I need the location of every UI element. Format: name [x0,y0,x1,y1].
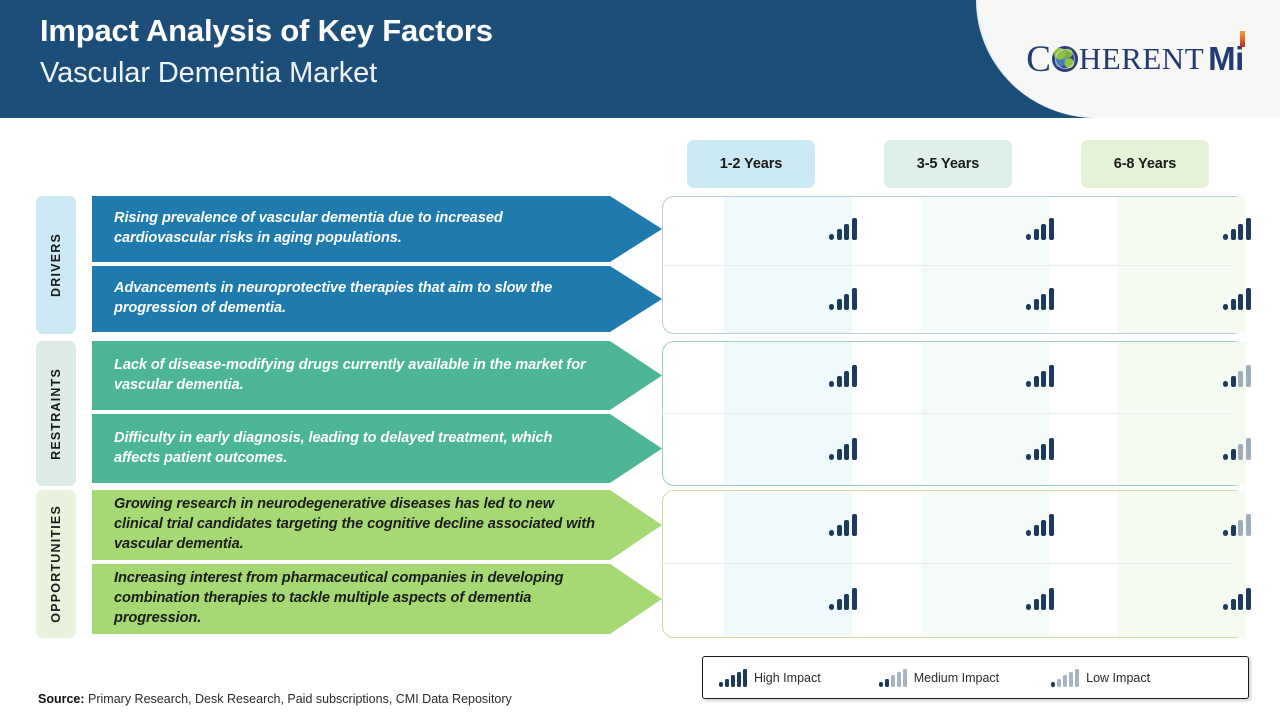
factor-text: Lack of disease-modifying drugs currentl… [114,356,602,395]
impact-cell [976,564,1104,634]
impact-cell [779,490,907,560]
impact-bars-medium-icon [879,669,907,687]
table-row: Increasing interest from pharmaceutical … [92,564,1246,634]
column-header-label: 6-8 Years [1114,156,1177,172]
factor-banner: Difficulty in early diagnosis, leading t… [92,414,662,483]
factor-text: Increasing interest from pharmaceutical … [114,569,602,628]
impact-bars-high [829,218,857,240]
logo-accent-bar [1240,31,1245,47]
page-title: Impact Analysis of Key Factors [40,12,493,51]
impact-cells [662,490,1246,560]
legend: High Impact Medium Impact Low Impact [702,656,1249,699]
impact-cell [779,414,907,483]
factor-text: Difficulty in early diagnosis, leading t… [114,429,602,468]
group-label-drivers: DRIVERS [36,196,76,334]
impact-cells [662,341,1246,410]
impact-cell [1173,490,1280,560]
table-row: Lack of disease-modifying drugs currentl… [92,341,1246,410]
legend-label: Low Impact [1086,671,1150,685]
logo-lead-letter: C [1026,38,1051,81]
logo-panel: C HERENT Mi [978,0,1280,118]
logo-mark-text: Mi [1208,40,1244,77]
group-label-restraints: RESTRAINTS [36,341,76,486]
column-header-6-8-years: 6-8 Years [1081,140,1209,188]
impact-bars-high [1223,588,1251,610]
impact-cell [779,196,907,262]
impact-bars-high [1026,514,1054,536]
impact-bars-medium [1223,514,1251,536]
table-row: Rising prevalence of vascular dementia d… [92,196,1246,262]
header-titles: Impact Analysis of Key Factors Vascular … [40,12,493,92]
impact-cell [779,266,907,332]
impact-bars-high [1026,438,1054,460]
impact-bars-high [1026,365,1054,387]
impact-bars-medium [1223,438,1251,460]
group-label-text: OPPORTUNITIES [49,505,63,623]
impact-cell [779,564,907,634]
group-label-opportunities: OPPORTUNITIES [36,490,76,638]
factor-banner: Lack of disease-modifying drugs currentl… [92,341,662,410]
legend-item-medium-impact: Medium Impact [879,669,999,687]
impact-cell [976,341,1104,410]
group-label-text: DRIVERS [49,233,63,297]
impact-cell [1173,341,1280,410]
page-subtitle: Vascular Dementia Market [40,55,493,93]
impact-cell [1173,564,1280,634]
table-row: Growing research in neurodegenerative di… [92,490,1246,560]
impact-bars-high [1223,288,1251,310]
coherentmi-logo: C HERENT Mi [1026,38,1244,81]
impact-cells [662,414,1246,483]
impact-bars-high [1223,218,1251,240]
group-rows: Lack of disease-modifying drugs currentl… [92,341,1246,486]
column-header-1-2-years: 1-2 Years [687,140,815,188]
column-header-label: 1-2 Years [720,156,783,172]
impact-cell [1173,414,1280,483]
impact-bars-high [829,514,857,536]
impact-bars-high [829,288,857,310]
impact-cell [779,341,907,410]
factor-text: Advancements in neuroprotective therapie… [114,279,602,318]
impact-bars-high [1026,288,1054,310]
factor-text: Growing research in neurodegenerative di… [114,495,602,554]
impact-cell [976,490,1104,560]
impact-bars-high [1026,218,1054,240]
column-header-label: 3-5 Years [917,156,980,172]
table-row: Difficulty in early diagnosis, leading t… [92,414,1246,483]
impact-bars-medium [1223,365,1251,387]
impact-cell [1173,196,1280,262]
group-opportunities: OPPORTUNITIES Growing research in neurod… [36,490,1246,638]
legend-item-high-impact: High Impact [719,669,821,687]
impact-bars-high [829,365,857,387]
impact-cell [1173,266,1280,332]
page-header: Impact Analysis of Key Factors Vascular … [0,0,1280,118]
factor-banner: Advancements in neuroprotective therapie… [92,266,662,332]
impact-bars-low-icon [1051,669,1079,687]
factor-text: Rising prevalence of vascular dementia d… [114,209,602,248]
impact-bars-high [829,438,857,460]
globe-icon [1052,46,1078,72]
source-text: Primary Research, Desk Research, Paid su… [88,692,512,706]
group-rows: Rising prevalence of vascular dementia d… [92,196,1246,334]
impact-cell [976,266,1104,332]
source-label: Source: [38,692,85,706]
source-line: Source: Primary Research, Desk Research,… [38,692,512,706]
group-drivers: DRIVERS Rising prevalence of vascular de… [36,196,1246,334]
impact-bars-high [1026,588,1054,610]
legend-label: High Impact [754,671,821,685]
impact-bars-high-icon [719,669,747,687]
impact-cell [976,414,1104,483]
legend-item-low-impact: Low Impact [1051,669,1150,687]
logo-mark: Mi [1208,40,1244,78]
group-rows: Growing research in neurodegenerative di… [92,490,1246,638]
group-label-text: RESTRAINTS [49,368,63,460]
impact-cell [976,196,1104,262]
factor-banner: Increasing interest from pharmaceutical … [92,564,662,634]
table-row: Advancements in neuroprotective therapie… [92,266,1246,332]
factor-banner: Rising prevalence of vascular dementia d… [92,196,662,262]
impact-cells [662,266,1246,332]
impact-cells [662,196,1246,262]
factor-banner: Growing research in neurodegenerative di… [92,490,662,560]
impact-bars-high [829,588,857,610]
column-header-3-5-years: 3-5 Years [884,140,1012,188]
logo-wordmark: HERENT [1079,41,1204,77]
group-restraints: RESTRAINTS Lack of disease-modifying dru… [36,341,1246,486]
impact-cells [662,564,1246,634]
legend-label: Medium Impact [914,671,999,685]
